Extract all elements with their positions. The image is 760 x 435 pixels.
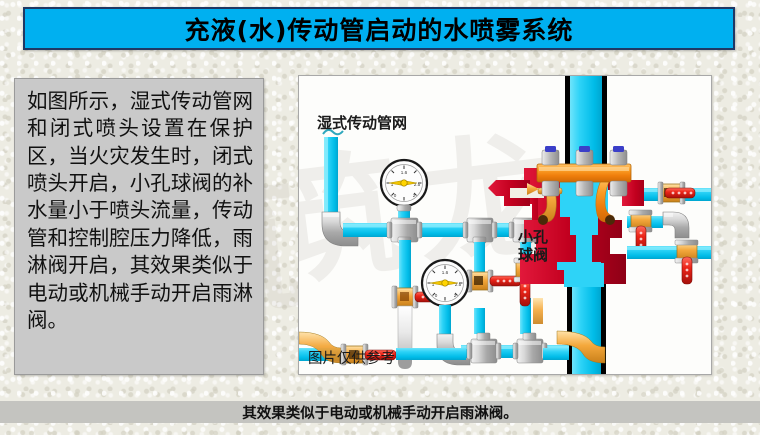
ball-valve-label-line1: 小孔	[518, 228, 548, 246]
valve-to-header-connector	[533, 298, 543, 324]
right-drain-valve	[629, 210, 652, 252]
drop-leg-left	[399, 240, 411, 290]
right-drain-elbow	[663, 212, 689, 238]
slide-title-bar: 充液(水)传动管启动的水喷雾系统	[23, 7, 735, 50]
lower-header-tee-a	[467, 333, 501, 363]
upper-pressure-gauge: 1.6 1 2.5 0 2	[381, 160, 427, 211]
ball-valve-label-line2: 球阀	[518, 246, 548, 264]
svg-text:0: 0	[394, 193, 397, 198]
mid-ball-valve	[467, 270, 521, 292]
page-title: 充液(水)传动管启动的水喷雾系统	[185, 11, 574, 47]
svg-text:1.6: 1.6	[442, 270, 449, 275]
svg-text:1.6: 1.6	[401, 170, 408, 175]
svg-text:2: 2	[413, 193, 416, 198]
right-lower-branch	[627, 240, 712, 284]
small-hole-ball-valve-label: 小孔 球阀	[518, 229, 548, 264]
svg-text:2: 2	[454, 293, 457, 298]
lower-pressure-gauge: 1.6 1 2.5 0 2	[422, 260, 468, 306]
right-lower-ball-valve	[675, 240, 698, 284]
bottom-caption-text: 其效果类似于电动或机械手动开启雨淋阀。	[242, 402, 518, 423]
bottom-caption-bar: 其效果类似于电动或机械手动开启雨淋阀。	[0, 401, 760, 423]
diagram-panel: 筑龙	[298, 75, 712, 375]
wet-pilot-network-label: 湿式传动管网	[317, 112, 407, 133]
upper-gauge-assembly: 1.6 1 2.5 0 2	[381, 160, 427, 243]
diagram-disclaimer-note: 图片仅供参考	[308, 347, 395, 368]
wet-pilot-riser	[323, 130, 343, 215]
deluge-valve-top-flange	[537, 146, 631, 196]
upper-gauge-tee	[387, 218, 422, 243]
lower-header-tee-b	[513, 333, 547, 363]
svg-text:0: 0	[435, 293, 438, 298]
description-panel: 如图所示，湿式传动管网和闭式喷头设置在保护区，当火灾发生时，闭式喷头开启，小孔球…	[14, 78, 264, 375]
upper-header-tee-a	[463, 218, 497, 243]
right-upper-branch	[644, 182, 712, 204]
description-text: 如图所示，湿式传动管网和闭式喷头设置在保护区，当火灾发生时，闭式喷头开启，小孔球…	[27, 88, 253, 334]
